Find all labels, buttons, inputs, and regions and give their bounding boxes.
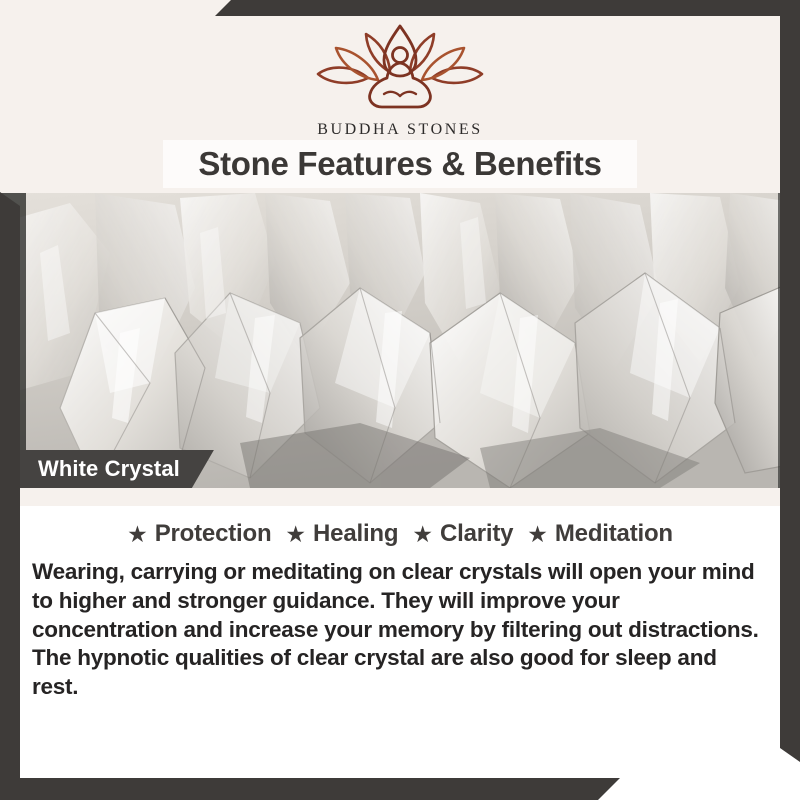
- brand-name: BUDDHA STONES: [317, 121, 483, 139]
- stone-name-label: White Crystal: [20, 450, 214, 488]
- title-band: Stone Features & Benefits: [163, 140, 637, 188]
- brand-logo: BUDDHA STONES: [0, 22, 800, 139]
- product-photo: White Crystal: [0, 193, 800, 488]
- benefits-row: ★ Protection ★ Healing ★ Clarity ★ Medit…: [30, 520, 770, 548]
- stone-name-text: White Crystal: [38, 456, 180, 482]
- benefit-item-healing: ★ Healing: [285, 520, 398, 548]
- star-icon: ★: [285, 523, 306, 546]
- divider-strip: [0, 488, 800, 506]
- frame-top-accent: [215, 0, 800, 16]
- star-icon: ★: [527, 523, 548, 546]
- poster-header: BUDDHA STONES Stone Features & Benefits: [0, 0, 800, 193]
- product-info-poster: BUDDHA STONES Stone Features & Benefits: [0, 0, 800, 800]
- benefit-label: Protection: [155, 520, 272, 548]
- benefit-label: Clarity: [440, 520, 513, 548]
- lotus-meditation-icon: [310, 22, 490, 115]
- benefit-item-clarity: ★ Clarity: [412, 520, 513, 548]
- frame-bottom-accent: [0, 778, 620, 800]
- content-area: ★ Protection ★ Healing ★ Clarity ★ Medit…: [0, 506, 800, 800]
- star-icon: ★: [412, 523, 433, 546]
- benefit-item-meditation: ★ Meditation: [527, 520, 673, 548]
- description-text: Wearing, carrying or meditating on clear…: [30, 558, 770, 702]
- frame-right-accent: [780, 0, 800, 762]
- benefit-item-protection: ★ Protection: [127, 520, 271, 548]
- benefit-label: Healing: [313, 520, 398, 548]
- star-icon: ★: [127, 523, 148, 546]
- frame-left-accent: [0, 192, 20, 800]
- page-title: Stone Features & Benefits: [198, 145, 601, 183]
- benefit-label: Meditation: [555, 520, 673, 548]
